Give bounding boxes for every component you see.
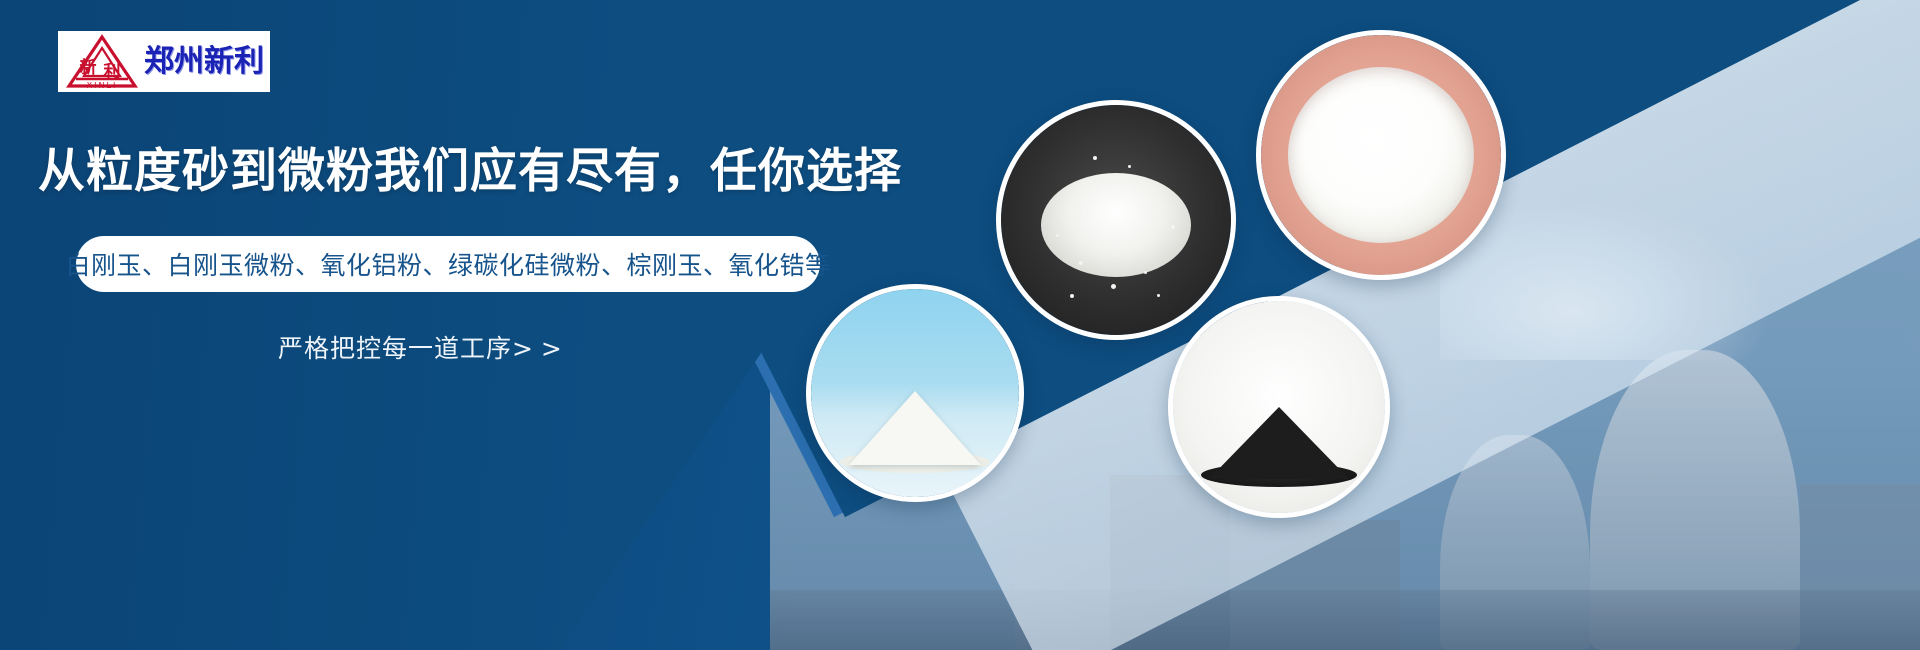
product-photo-white-powder-cone [806, 284, 1024, 502]
ground-strip [770, 590, 1920, 650]
tagline-link[interactable]: 严格把控每一道工序> > [278, 329, 562, 365]
xinli-triangle-icon: 新 利 XINLI [66, 33, 138, 90]
svg-text:XINLI: XINLI [87, 81, 118, 90]
product-photo-white-powder-salmon-tray [1256, 30, 1506, 280]
headline: 从粒度砂到微粉我们应有尽有，任你选择 [38, 146, 902, 198]
product-photo-inner [1001, 105, 1231, 335]
svg-text:利: 利 [104, 61, 121, 82]
product-photo-inner [1261, 35, 1501, 275]
product-photo-black-granules-white-tray [1168, 296, 1390, 518]
tagline-text: 严格把控每一道工序 [278, 334, 512, 363]
svg-text:新: 新 [80, 57, 97, 78]
product-photo-inner [811, 289, 1019, 497]
granule-speck [1111, 284, 1116, 289]
granule-speck [1171, 225, 1175, 229]
black-granule-pile [1209, 407, 1349, 479]
granule-speck [1070, 294, 1074, 298]
granule-speck [1144, 271, 1147, 274]
white-granule-pile [1041, 173, 1191, 277]
product-list-pill: 白刚玉、白刚玉微粉、氧化铝粉、绿碳化硅微粉、棕刚玉、氧化锆等 [76, 236, 820, 292]
promo-banner: 新 利 XINLI 郑州新利 从粒度砂到微粉我们应有尽有，任你选择 白刚玉、白刚… [0, 0, 1920, 650]
product-photo-white-granules-dark-tray [996, 100, 1236, 340]
granule-speck [1128, 165, 1131, 168]
product-photo-inner [1173, 301, 1385, 513]
powder-cone [849, 391, 981, 465]
company-logo[interactable]: 新 利 XINLI 郑州新利 [58, 31, 270, 92]
granule-speck [1093, 156, 1097, 160]
granule-speck [1056, 234, 1059, 237]
company-name: 郑州新利 [144, 47, 264, 77]
tagline-arrows: > > [512, 334, 562, 363]
granule-speck [1157, 294, 1160, 297]
white-powder-mound [1288, 67, 1474, 243]
product-list-text: 白刚玉、白刚玉微粉、氧化铝粉、绿碳化硅微粉、棕刚玉、氧化锆等 [66, 246, 831, 282]
